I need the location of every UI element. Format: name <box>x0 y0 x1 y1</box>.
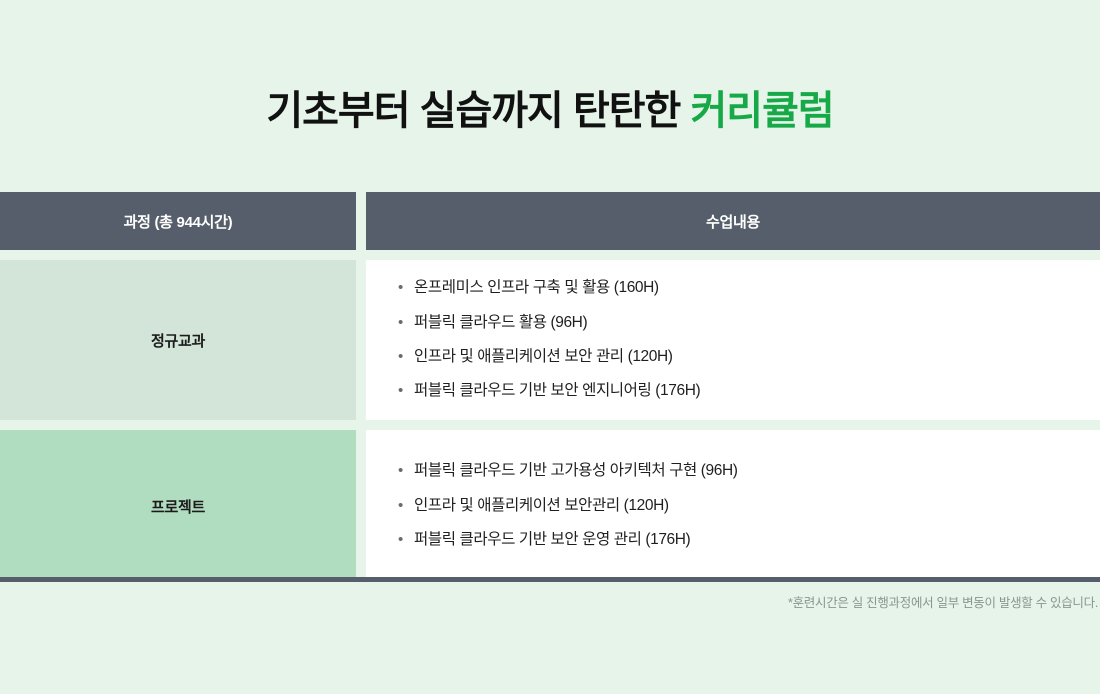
bullet-icon: • <box>398 277 414 299</box>
list-item-label: 인프라 및 애플리케이션 보안 관리 (120H) <box>414 346 673 368</box>
footnote-text: *훈련시간은 실 진행과정에서 일부 변동이 발생할 수 있습니다. <box>788 592 1098 611</box>
bullet-icon: • <box>398 460 414 482</box>
list-item-label: 퍼블릭 클라우드 기반 보안 운영 관리 (176H) <box>414 529 690 551</box>
list-item: • 인프라 및 애플리케이션 보안 관리 (120H) <box>398 346 1100 368</box>
list-item-label: 퍼블릭 클라우드 활용 (96H) <box>414 312 587 334</box>
column-header-content: 수업내용 <box>366 192 1100 250</box>
list-item: • 퍼블릭 클라우드 활용 (96H) <box>398 312 1100 334</box>
list-item: • 온프레미스 인프라 구축 및 활용 (160H) <box>398 277 1100 299</box>
curriculum-page: 기초부터 실습까지 탄탄한 커리큘럼 과정 (총 944시간) 수업내용 정규교… <box>0 0 1100 694</box>
table-row: 프로젝트 • 퍼블릭 클라우드 기반 고가용성 아키텍처 구현 (96H) • … <box>0 430 1100 582</box>
list-item: • 퍼블릭 클라우드 기반 보안 엔지니어링 (176H) <box>398 380 1100 402</box>
table-body: 정규교과 • 온프레미스 인프라 구축 및 활용 (160H) • 퍼블릭 클라… <box>0 260 1100 582</box>
page-title: 기초부터 실습까지 탄탄한 커리큘럼 <box>0 88 1100 134</box>
curriculum-table: 과정 (총 944시간) 수업내용 정규교과 • 온프레미스 인프라 구축 및 … <box>0 192 1100 582</box>
column-header-category: 과정 (총 944시간) <box>0 192 356 250</box>
list-item-label: 퍼블릭 클라우드 기반 고가용성 아키텍처 구현 (96H) <box>414 460 738 482</box>
category-label-regular: 정규교과 <box>0 260 356 420</box>
row-column-gap <box>356 430 366 582</box>
row-column-gap <box>356 260 366 420</box>
page-title-accent: 커리큘럼 <box>690 89 833 133</box>
page-title-prefix: 기초부터 실습까지 탄탄한 <box>266 89 690 133</box>
page-title-container: 기초부터 실습까지 탄탄한 커리큘럼 <box>0 88 1100 134</box>
list-item-label: 인프라 및 애플리케이션 보안관리 (120H) <box>414 495 669 517</box>
list-item-label: 퍼블릭 클라우드 기반 보안 엔지니어링 (176H) <box>414 380 700 402</box>
table-bottom-border <box>0 577 1100 582</box>
table-row: 정규교과 • 온프레미스 인프라 구축 및 활용 (160H) • 퍼블릭 클라… <box>0 260 1100 420</box>
category-label-project: 프로젝트 <box>0 430 356 582</box>
bullet-icon: • <box>398 495 414 517</box>
list-item: • 퍼블릭 클라우드 기반 보안 운영 관리 (176H) <box>398 529 1100 551</box>
header-column-gap <box>356 192 366 250</box>
bullet-icon: • <box>398 380 414 402</box>
content-list-project: • 퍼블릭 클라우드 기반 고가용성 아키텍처 구현 (96H) • 인프라 및… <box>366 430 1100 582</box>
list-item: • 퍼블릭 클라우드 기반 고가용성 아키텍처 구현 (96H) <box>398 460 1100 482</box>
bullet-icon: • <box>398 529 414 551</box>
table-header-row: 과정 (총 944시간) 수업내용 <box>0 192 1100 250</box>
header-body-gap <box>0 250 1100 260</box>
row-separator-gap <box>0 420 1100 430</box>
list-item: • 인프라 및 애플리케이션 보안관리 (120H) <box>398 495 1100 517</box>
bullet-icon: • <box>398 346 414 368</box>
list-item-label: 온프레미스 인프라 구축 및 활용 (160H) <box>414 277 659 299</box>
content-list-regular: • 온프레미스 인프라 구축 및 활용 (160H) • 퍼블릭 클라우드 활용… <box>366 260 1100 420</box>
bullet-icon: • <box>398 312 414 334</box>
